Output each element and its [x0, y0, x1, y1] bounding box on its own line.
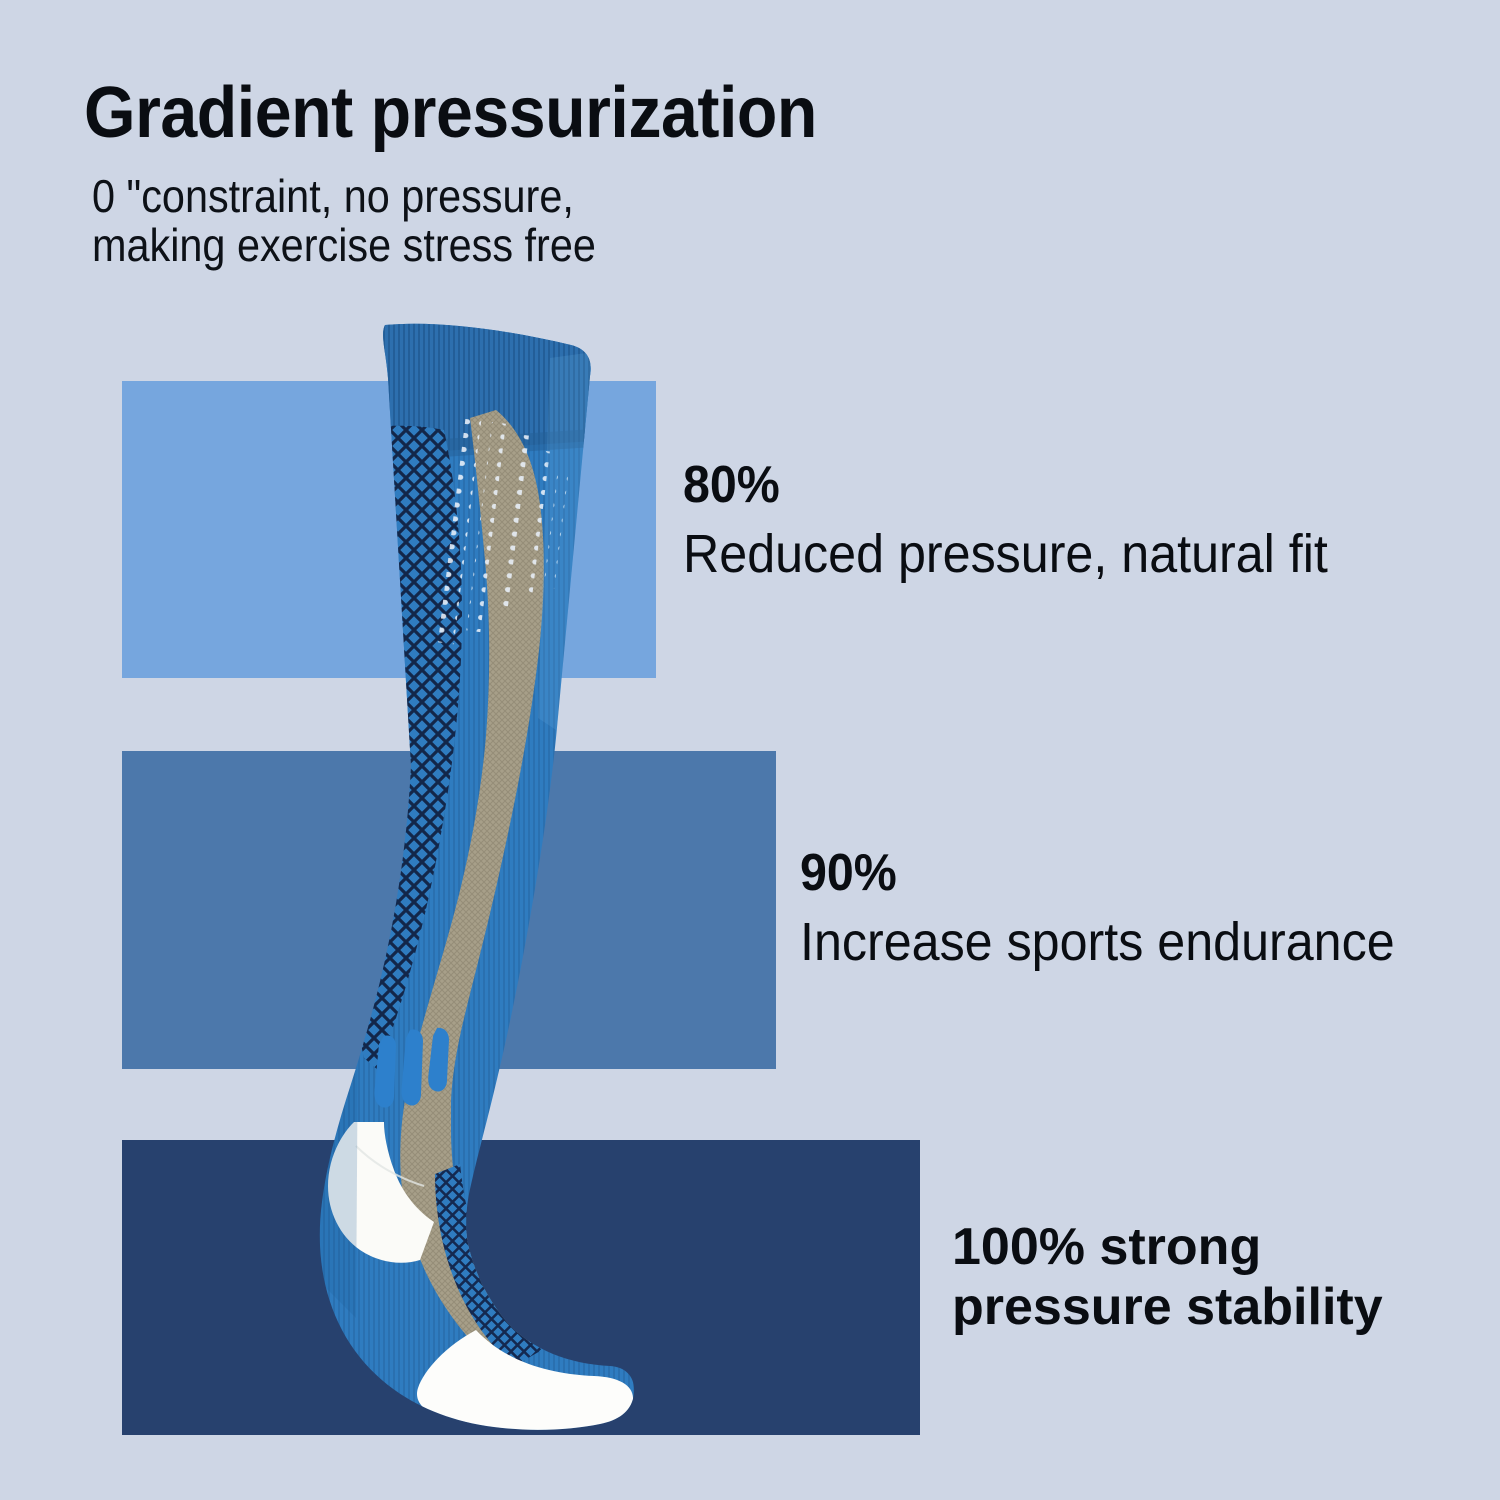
- callout-100-line-1: 100% strong: [952, 1218, 1383, 1278]
- callout-100: 100% strong pressure stability: [952, 1218, 1383, 1338]
- subtitle-line-2: making exercise stress free: [92, 219, 596, 271]
- callout-100-line-2: pressure stability: [952, 1278, 1383, 1338]
- page-subtitle: 0 "constraint, no pressure, making exerc…: [92, 172, 596, 270]
- callout-80-description: Reduced pressure, natural fit: [683, 523, 1328, 585]
- callout-80-percent: 80%: [683, 455, 1328, 515]
- sock-body: [238, 318, 638, 1443]
- subtitle-line-1: 0 "constraint, no pressure,: [92, 170, 574, 222]
- callout-90-description: Increase sports endurance: [800, 911, 1395, 973]
- compression-sock-illustration: [238, 318, 638, 1443]
- callout-80: 80% Reduced pressure, natural fit: [683, 455, 1376, 585]
- callout-90: 90% Increase sports endurance: [800, 843, 1439, 973]
- left-edge-shadow: [316, 434, 362, 1318]
- infographic-page: Gradient pressurization 0 "constraint, n…: [0, 0, 1500, 1500]
- callout-90-percent: 90%: [800, 843, 1395, 903]
- page-title: Gradient pressurization: [84, 72, 817, 154]
